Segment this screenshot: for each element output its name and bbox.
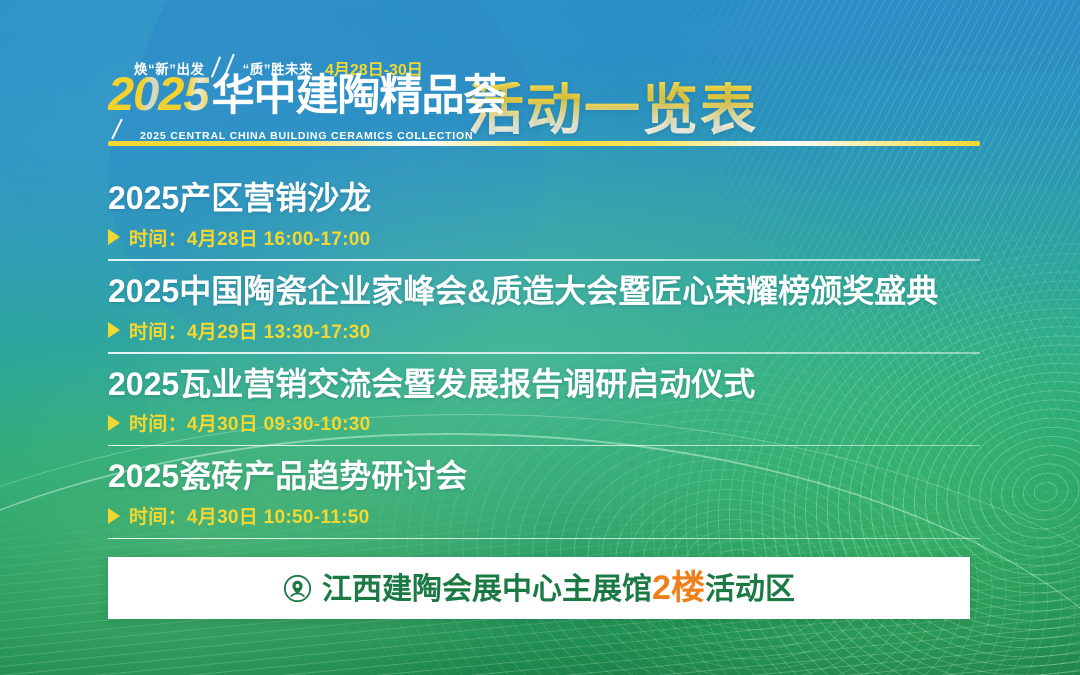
- play-triangle-icon: [108, 508, 120, 524]
- logo-wordmark: 2025 华中建陶精品荟: [108, 70, 506, 118]
- list-separator: [108, 538, 980, 540]
- event-time-text: 时间：4月28日 16:00-17:00: [129, 224, 371, 251]
- location-content: 江西建陶会展中心主展馆2楼活动区: [283, 571, 795, 605]
- location-suffix: 活动区: [705, 573, 795, 606]
- location-prefix: 江西建陶会展中心主展馆: [322, 573, 652, 606]
- location-floor-highlight: 2楼: [652, 569, 705, 607]
- list-item[interactable]: 2025瓦业营销交流会暨发展报告调研启动仪式 时间：4月30日 09:30-10…: [108, 354, 980, 447]
- event-time-text: 时间：4月29日 13:30-17:30: [129, 317, 371, 344]
- event-title: 2025瓦业营销交流会暨发展报告调研启动仪式: [108, 366, 980, 404]
- event-logo: 焕“新”出发 “质”胜未来 4月28日-30日 2025 华中建陶精品荟 202…: [108, 48, 438, 140]
- poster-canvas: 焕“新”出发 “质”胜未来 4月28日-30日 2025 华中建陶精品荟 202…: [0, 0, 1080, 675]
- list-item[interactable]: 2025中国陶瓷企业家峰会&质造大会暨匠心荣耀榜颁奖盛典 时间：4月29日 13…: [108, 261, 980, 354]
- play-triangle-icon: [108, 322, 120, 338]
- header-divider: [108, 141, 980, 146]
- event-time: 时间：4月30日 09:30-10:30: [108, 409, 980, 436]
- list-item[interactable]: 2025瓷砖产品趋势研讨会 时间：4月30日 10:50-11:50: [108, 446, 980, 539]
- event-time: 时间：4月28日 16:00-17:00: [108, 224, 980, 251]
- location-bar: 江西建陶会展中心主展馆2楼活动区: [108, 557, 970, 619]
- logo-year: 2025: [108, 70, 209, 117]
- logo-name-cn: 华中建陶精品荟: [212, 75, 506, 118]
- event-title: 2025中国陶瓷企业家峰会&质造大会暨匠心荣耀榜颁奖盛典: [108, 273, 980, 311]
- poster-header: 焕“新”出发 “质”胜未来 4月28日-30日 2025 华中建陶精品荟 202…: [108, 44, 980, 140]
- event-title: 2025产区营销沙龙: [108, 180, 980, 218]
- location-text: 江西建陶会展中心主展馆2楼活动区: [322, 571, 795, 605]
- location-pin-icon: [283, 574, 312, 603]
- play-triangle-icon: [108, 415, 120, 431]
- event-time-text: 时间：4月30日 09:30-10:30: [129, 409, 371, 436]
- play-triangle-icon: [108, 229, 120, 245]
- page-title: 活动一览表: [468, 82, 758, 138]
- event-time-text: 时间：4月30日 10:50-11:50: [129, 502, 369, 529]
- logo-slash-icon: [111, 119, 122, 140]
- event-time: 时间：4月30日 10:50-11:50: [108, 502, 980, 529]
- event-time: 时间：4月29日 13:30-17:30: [108, 317, 980, 344]
- event-list: 2025产区营销沙龙 时间：4月28日 16:00-17:00 2025中国陶瓷…: [108, 168, 980, 539]
- list-item[interactable]: 2025产区营销沙龙 时间：4月28日 16:00-17:00: [108, 168, 980, 261]
- event-title: 2025瓷砖产品趋势研讨会: [108, 458, 980, 496]
